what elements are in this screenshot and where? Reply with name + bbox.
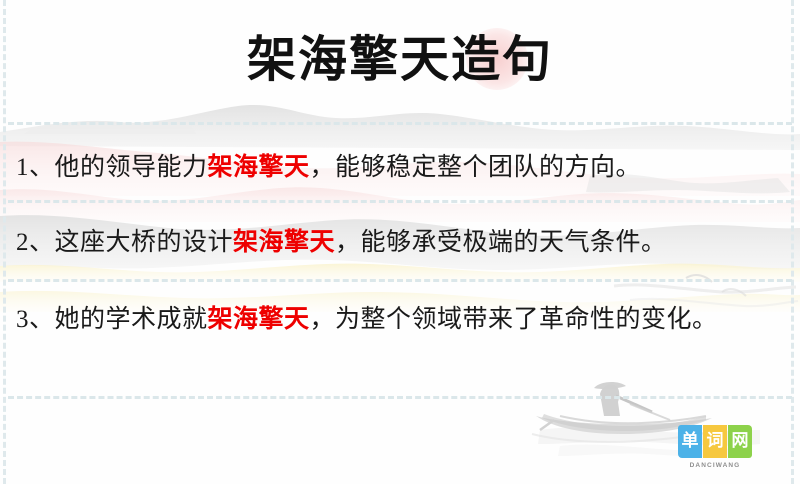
page-root: 架海擎天造句 1、他的领导能力架海擎天，能够稳定整个团队的方向。 2、这座大桥的…: [0, 0, 800, 484]
boat-deck-line: [560, 416, 706, 423]
logo-char-3: 网: [728, 425, 752, 458]
sentence-after-3: ，为整个领域带来了革命性的变化。: [310, 306, 718, 333]
fishing-pole-2: [630, 404, 670, 420]
separator-line-3: [8, 279, 792, 282]
sentence-index-3: 3、: [16, 306, 55, 333]
sentence-index-1: 1、: [16, 154, 55, 181]
logo-caption: DANCIWANG: [676, 462, 754, 469]
logo-book-icon: 单 词 网: [678, 425, 752, 458]
cloud-stroke-1: [614, 285, 796, 292]
sentence-before-2: 这座大桥的设计: [55, 229, 234, 256]
logo-panel-yellow: 词: [703, 425, 727, 458]
sentence-before-3: 她的学术成就: [55, 306, 208, 333]
logo-panel-blue: 单: [678, 425, 702, 458]
separator-line-2: [8, 200, 792, 203]
sentence-index-2: 2、: [16, 229, 55, 256]
logo-panel-green: 网: [728, 425, 752, 458]
separator-line-4: [8, 396, 792, 399]
page-title: 架海擎天造句: [0, 26, 800, 92]
ridge-mid-pink: [0, 187, 800, 222]
ridge-far: [0, 105, 800, 150]
sentence-before-1: 他的领导能力: [55, 154, 208, 181]
logo-char-2: 词: [703, 425, 727, 458]
oar: [540, 420, 554, 430]
sentence-item-1: 1、他的领导能力架海擎天，能够稳定整个团队的方向。: [16, 146, 778, 188]
site-logo[interactable]: 单 词 网 DANCIWANG: [676, 425, 754, 475]
sentence-item-2: 2、这座大桥的设计架海擎天，能够承受极端的天气条件。: [16, 221, 778, 263]
sentence-after-1: ，能够稳定整个团队的方向。: [310, 154, 642, 181]
bird-stroke-2: [722, 289, 746, 296]
keyword-highlight-3: 架海擎天: [208, 304, 310, 333]
separator-line-1: [8, 122, 792, 125]
fisherman-body: [600, 384, 620, 416]
fisherman-hat: [594, 382, 626, 389]
sentence-after-2: ，能够承受极端的天气条件。: [335, 229, 667, 256]
keyword-highlight-2: 架海擎天: [233, 227, 335, 256]
sentence-item-3: 3、她的学术成就架海擎天，为整个领域带来了革命性的变化。: [16, 298, 778, 340]
keyword-highlight-1: 架海擎天: [208, 152, 310, 181]
logo-char-1: 单: [678, 425, 702, 458]
